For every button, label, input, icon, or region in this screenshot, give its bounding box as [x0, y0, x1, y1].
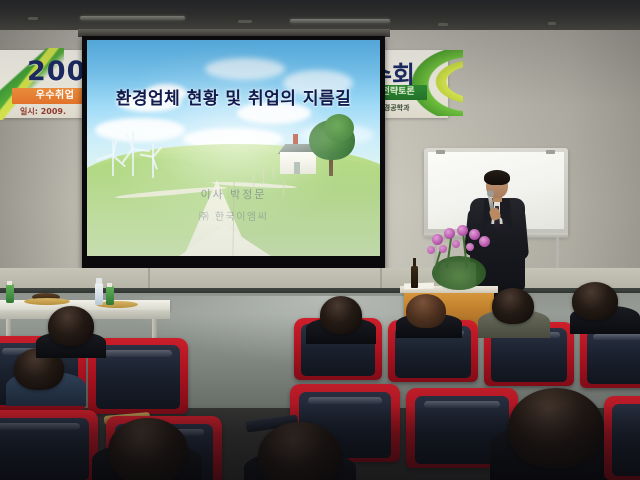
slide-house-door	[294, 162, 300, 174]
orchid-flower	[469, 229, 480, 240]
speaker-hair	[484, 170, 510, 185]
orchid-flower	[457, 225, 468, 236]
slide-main-path-foreground	[173, 226, 277, 256]
bottle-cap	[7, 281, 12, 285]
slide-company-line: ㈜ 한국이엠씨	[87, 208, 380, 223]
audience-head	[508, 388, 604, 468]
orchid-flower	[479, 236, 490, 247]
bottle-cap	[107, 283, 112, 287]
orchid-bud	[466, 243, 474, 251]
ceiling-light-fixture	[238, 20, 252, 23]
lecture-hall-photo: 200 수회 우수취업 강전략토론 일시: 2009. 학교 환경공학과	[0, 0, 640, 480]
podium-papers	[404, 282, 434, 289]
slide-tree-canopy	[324, 114, 354, 142]
ceiling-light-fixture	[438, 23, 448, 26]
audience-head	[406, 294, 446, 328]
white-bottle	[95, 283, 103, 305]
dark-bottle	[411, 266, 418, 288]
orchid-flower	[444, 228, 455, 239]
green-bottle	[6, 284, 14, 303]
slide-wind-turbine	[129, 132, 137, 176]
whiteboard-clip	[436, 150, 445, 154]
slide-title: 환경업체 현황 및 취업의 지름길	[87, 84, 380, 109]
slide-cloud	[205, 58, 285, 80]
projection-screen: 환경업체 현황 및 취업의 지름길 이사 박정문 ㈜ 한국이엠씨	[87, 40, 380, 256]
microphone-capsule	[487, 190, 494, 197]
orchid-bud	[439, 245, 447, 253]
slide-wind-turbine	[109, 138, 117, 178]
flower-foliage	[432, 256, 486, 290]
orchid-bud	[427, 246, 435, 254]
banner-year-text: 200	[27, 56, 86, 87]
audience-head	[572, 282, 618, 320]
banner-date-text: 일시: 2009.	[20, 106, 66, 117]
audience-head	[108, 418, 188, 480]
snack-plate	[24, 298, 70, 305]
ceiling-light-fixture	[290, 19, 390, 23]
audience-head	[320, 296, 362, 334]
green-bottle	[106, 286, 114, 305]
orchid-bud	[452, 240, 460, 248]
audience-head	[492, 288, 534, 324]
slide-wind-turbine	[149, 144, 157, 178]
ceiling-light-fixture	[80, 16, 185, 20]
slide-fence-post	[273, 166, 274, 180]
slide-presenter-line: 이사 박정문	[87, 186, 380, 202]
whiteboard-clip	[546, 150, 555, 154]
audience-head	[48, 306, 94, 346]
bottle-cap	[96, 278, 102, 284]
ceiling-light-fixture	[548, 22, 556, 25]
slide-fence-post	[263, 170, 264, 184]
orchid-flower	[432, 234, 443, 245]
ceiling-light-fixture	[28, 17, 38, 20]
